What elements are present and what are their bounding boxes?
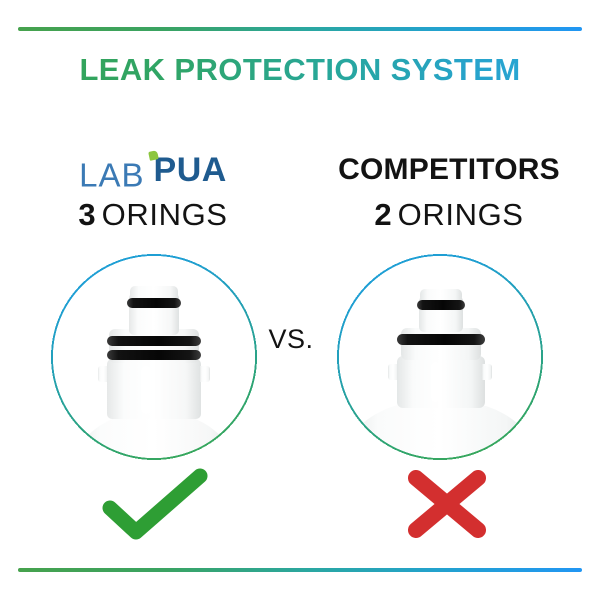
oring-count-number-left: 3 <box>78 197 95 232</box>
oring-count-word-right: ORINGS <box>398 197 524 232</box>
leaf-icon <box>148 150 159 161</box>
oring-count-right: 2ORINGS <box>318 194 580 236</box>
check-icon <box>110 476 200 532</box>
cross-icon <box>416 478 478 530</box>
column-labpua: LAB PUA 3ORINGS <box>22 150 284 236</box>
competitors-title: COMPETITORS <box>318 150 580 190</box>
oring-count-word-left: ORINGS <box>102 197 228 232</box>
oring-1 <box>127 298 181 308</box>
oring-2 <box>107 336 201 346</box>
oring-count-number-right: 2 <box>374 197 391 232</box>
product-circle-competitor <box>336 253 544 461</box>
oring-3 <box>107 350 201 360</box>
brand-label-lab: LAB <box>79 157 144 194</box>
product-photo-labpua <box>53 256 255 458</box>
column-competitors: COMPETITORS 2ORINGS <box>318 150 580 236</box>
brand-pua-group: PUA <box>154 150 227 201</box>
brand-label-pua: PUA <box>154 151 227 189</box>
oring-1 <box>417 300 465 310</box>
verdict-check-labpua <box>100 468 210 540</box>
divider-bottom <box>18 568 582 572</box>
verdict-cross-competitor <box>392 468 502 540</box>
oring-2 <box>397 334 485 345</box>
page-title: LEAK PROTECTION SYSTEM <box>0 52 600 88</box>
brand-logo: LAB PUA <box>22 150 284 190</box>
vs-label: VS. <box>262 324 320 355</box>
product-photo-competitor <box>339 256 541 458</box>
product-circle-labpua <box>50 253 258 461</box>
divider-top <box>18 27 582 31</box>
